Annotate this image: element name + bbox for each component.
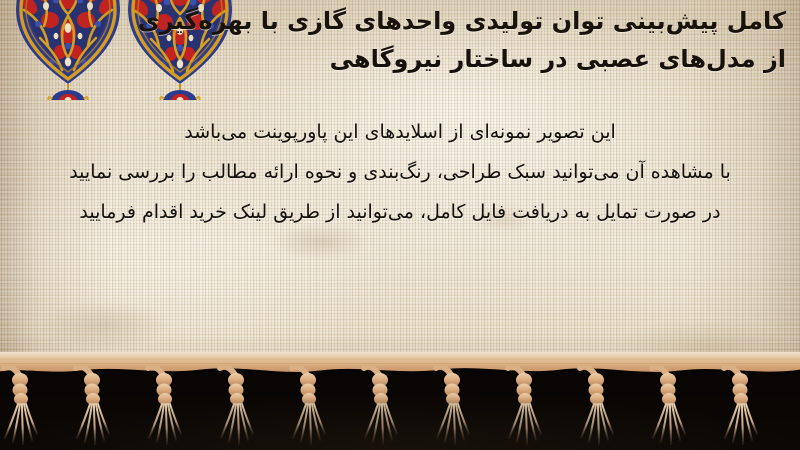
- body-line-1: این تصویر نمونه‌ای از اسلایدهای این پاور…: [0, 112, 800, 152]
- title-line-1: کامل پیش‌بینی توان تولیدی واحدهای گازی ب…: [226, 2, 786, 40]
- body-line-2: با مشاهده آن می‌توانید سبک طراحی، رنگ‌بن…: [0, 152, 800, 192]
- body-line-3: در صورت تمایل به دریافت فایل کامل، می‌تو…: [0, 192, 800, 232]
- text-layer: کامل پیش‌بینی توان تولیدی واحدهای گازی ب…: [0, 0, 800, 378]
- slide-canvas: کامل پیش‌بینی توان تولیدی واحدهای گازی ب…: [0, 0, 800, 450]
- title-line-2: از مدل‌های عصبی در ساختار نیروگاهی: [226, 40, 786, 78]
- carpet-tassel-row: [0, 366, 800, 450]
- watermark-body: این تصویر نمونه‌ای از اسلایدهای این پاور…: [0, 112, 800, 232]
- carpet-fringe-zone: [0, 352, 800, 450]
- page-title: کامل پیش‌بینی توان تولیدی واحدهای گازی ب…: [226, 2, 786, 78]
